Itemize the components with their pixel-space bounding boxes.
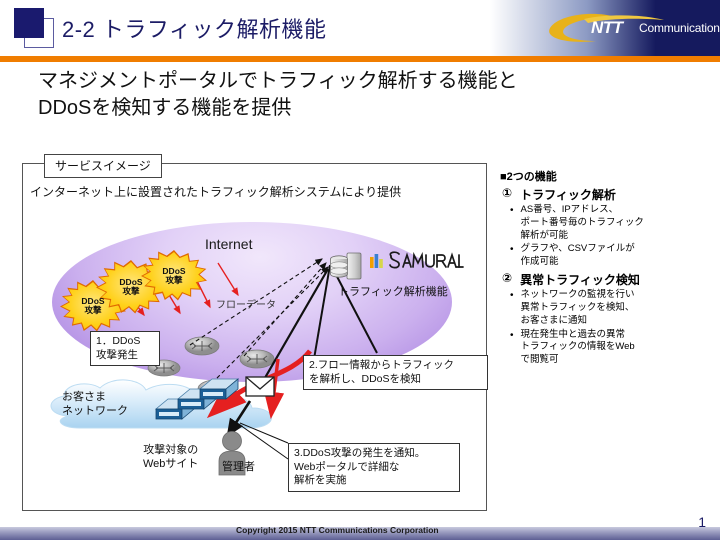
callout-2: 2.フロー情報からトラフィック を解析し、DDoSを検知	[303, 355, 488, 390]
administrator-label: 管理者	[222, 458, 255, 474]
bullet-dot-icon: •	[510, 289, 514, 327]
ntt-wordmark: NTT	[591, 18, 623, 38]
sidebar-section-2-title-row: ② 異常トラフィック検知	[502, 271, 715, 288]
callout-1: 1．DDoS 攻撃発生	[90, 331, 160, 366]
ddos-burst-1-line2: 攻撃	[84, 306, 101, 315]
samurai-brand-logo	[370, 250, 462, 274]
ddos-burst-3-line2: 攻撃	[165, 276, 182, 285]
sidebar-section-1-bullet-2-text: グラフや、CSVファイルが 作成可能	[521, 243, 715, 269]
features-sidebar: ■2つの機能 ① トラフィック解析 • AS番号、IPアドレス、 ポート番号毎の…	[500, 168, 715, 368]
sidebar-section-2-number: ②	[502, 271, 512, 288]
logo-square-filled	[14, 8, 44, 38]
header-orange-rule	[0, 56, 720, 62]
sidebar-section-1-title: トラフィック解析	[520, 186, 616, 203]
internet-label: Internet	[205, 236, 252, 252]
sidebar-section-2-bullet-1-text: ネットワークの監視を行い 異常トラフィックを検知、 お客さまに通知	[521, 289, 715, 327]
ntt-square-logo-icon	[14, 8, 56, 48]
bullet-dot-icon: •	[510, 243, 514, 269]
page-title: 2-2 トラフィック解析機能	[62, 12, 326, 44]
bullet-dot-icon: •	[510, 204, 514, 242]
bullet-dot-icon: •	[510, 329, 514, 367]
ddos-burst-3: DDoS 攻撃	[143, 252, 205, 299]
communications-wordmark: Communications	[639, 21, 720, 35]
target-website-label: 攻撃対象の Webサイト	[143, 444, 198, 472]
sidebar-section-2-bullet-2-text: 現在発生中と過去の異常 トラフィックの情報をWeb で閲覧可	[521, 329, 715, 367]
sidebar-section-1-bullet-2: • グラフや、CSVファイルが 作成可能	[510, 243, 715, 269]
samurai-bars-icon	[370, 254, 386, 268]
page-number: 1	[698, 514, 706, 530]
callout-3: 3.DDoS攻撃の発生を通知。 Webポータルで詳細な 解析を実施	[288, 443, 460, 492]
sidebar-section-2-title: 異常トラフィック検知	[520, 271, 640, 288]
sidebar-section-1-title-row: ① トラフィック解析	[502, 186, 715, 203]
headline-text: マネジメントポータルでトラフィック解析する機能と DDoSを検知する機能を提供	[38, 68, 638, 122]
service-description: インターネット上に設置されたトラフィック解析システムにより提供	[30, 183, 401, 200]
customer-network-label: お客さま ネットワーク	[62, 391, 128, 419]
analysis-server-icon	[330, 250, 364, 282]
sidebar-section-2-bullet-1: • ネットワークの監視を行い 異常トラフィックを検知、 お客さまに通知	[510, 289, 715, 327]
analysis-system-label: トラフィック解析機能	[338, 283, 448, 299]
flow-data-label: フローデータ	[216, 296, 276, 311]
sidebar-section-1-bullet-1: • AS番号、IPアドレス、 ポート番号毎のトラフィック 解析が可能	[510, 204, 715, 242]
ddos-burst-2-line2: 攻撃	[122, 287, 139, 296]
sidebar-section-1-bullet-1-text: AS番号、IPアドレス、 ポート番号毎のトラフィック 解析が可能	[521, 204, 715, 242]
samurai-wordmark-icon	[388, 250, 464, 272]
sidebar-section-2-bullet-2: • 現在発生中と過去の異常 トラフィックの情報をWeb で閲覧可	[510, 329, 715, 367]
ntt-communications-logo: NTT Communications	[544, 12, 712, 44]
slide-header: 2-2 トラフィック解析機能 NTT Communications	[0, 0, 720, 56]
service-image-tab-label: サービスイメージ	[44, 154, 162, 178]
sidebar-section-1-number: ①	[502, 186, 512, 203]
copyright-text: Copyright 2015 NTT Communications Corpor…	[236, 525, 439, 535]
sidebar-heading: ■2つの機能	[500, 168, 715, 184]
